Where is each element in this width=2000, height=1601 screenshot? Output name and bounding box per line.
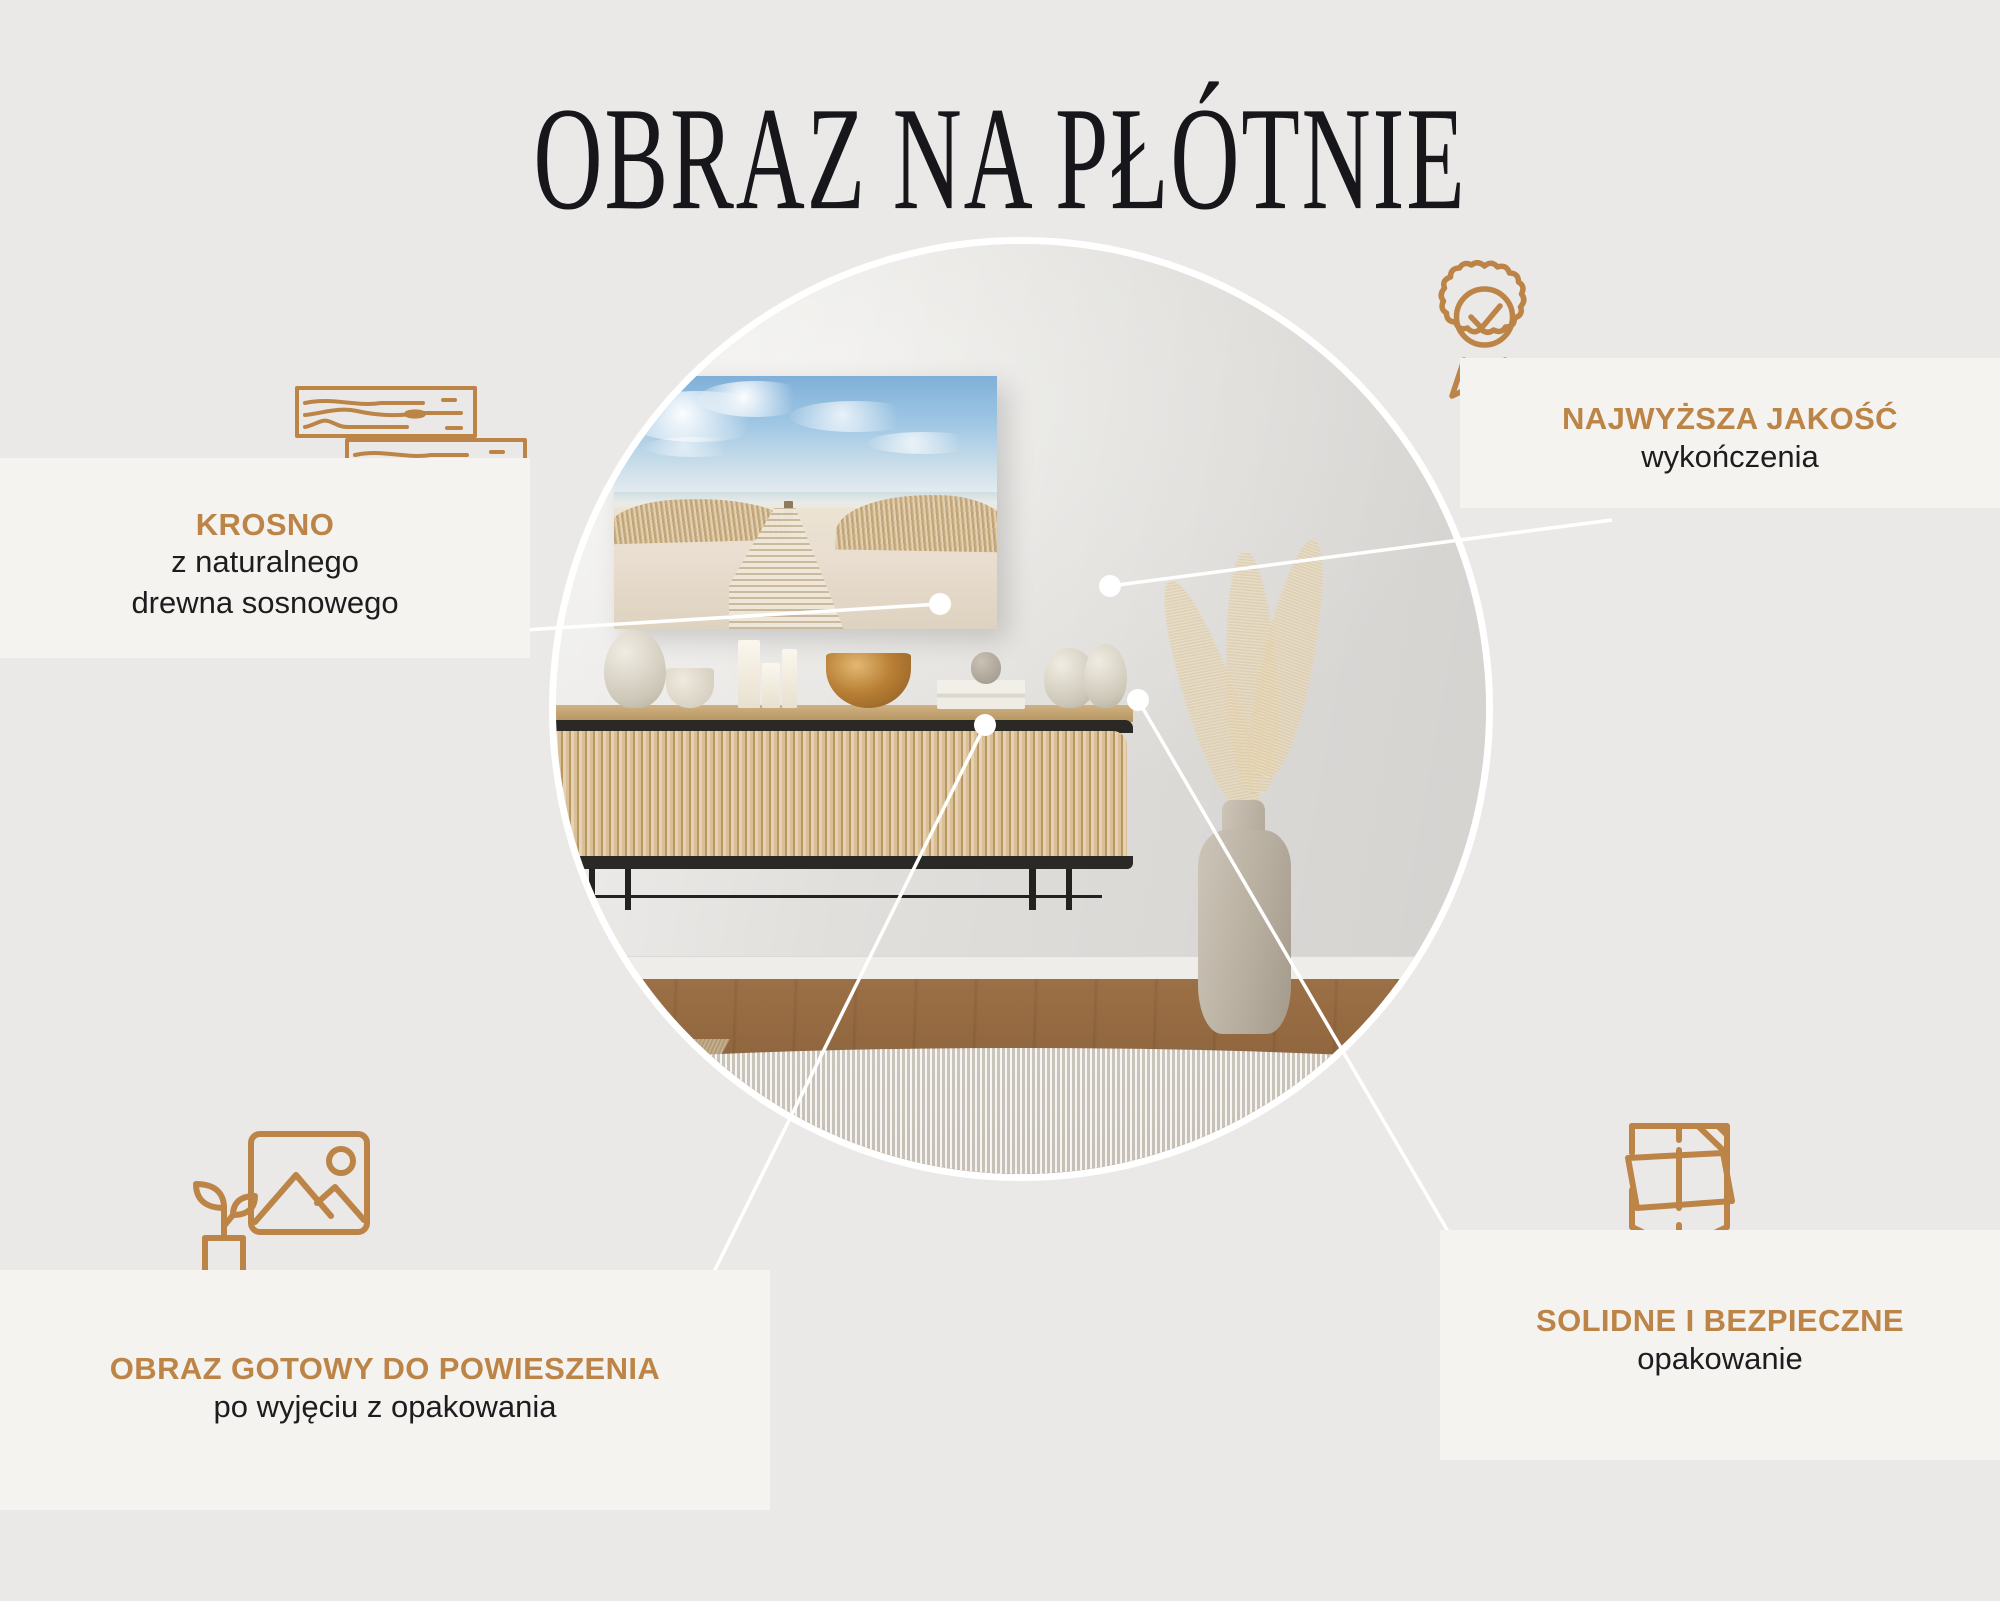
interior-room-photo bbox=[556, 244, 1486, 1174]
feature-panel-jakosc: NAJWYŻSZA JAKOŚĆ wykończenia bbox=[1460, 358, 2000, 508]
decor-round-vase bbox=[1084, 644, 1127, 708]
page-title: OBRAZ NA PŁÓTNIE bbox=[80, 86, 1920, 234]
baseboard bbox=[556, 956, 1486, 980]
feature-title-krosno: KROSNO bbox=[0, 507, 530, 543]
decor-candle bbox=[762, 663, 780, 709]
sideboard-leg bbox=[589, 869, 596, 910]
feature-panel-krosno: KROSNO z naturalnego drewna sosnowego bbox=[0, 458, 530, 658]
decor-round-vase bbox=[604, 630, 665, 708]
cloud-icon bbox=[790, 401, 920, 431]
framed-picture-icon bbox=[155, 1130, 415, 1290]
feature-subtitle-krosno-line1: z naturalnego bbox=[0, 542, 530, 583]
sideboard-lower-band bbox=[556, 856, 1133, 869]
feature-title-jakosc: NAJWYŻSZA JAKOŚĆ bbox=[1460, 401, 2000, 437]
leaf-icon bbox=[196, 1184, 224, 1208]
sideboard-leg bbox=[625, 869, 632, 910]
canvas-artwork bbox=[614, 376, 997, 629]
sideboard-ribbed-front bbox=[556, 731, 1127, 859]
feature-subtitle-jakosc: wykończenia bbox=[1460, 437, 2000, 478]
feature-subtitle-solidne: opakowanie bbox=[1440, 1339, 2000, 1380]
decor-stone-ball bbox=[971, 652, 1002, 684]
feature-title-solidne: SOLIDNE I BEZPIECZNE bbox=[1440, 1303, 2000, 1339]
sideboard-leg bbox=[1066, 869, 1073, 910]
decor-books bbox=[937, 680, 1024, 709]
decor-candle bbox=[738, 640, 759, 708]
feature-panel-gotowy: OBRAZ GOTOWY DO POWIESZENIA po wyjęciu z… bbox=[0, 1270, 770, 1510]
pampas-vase bbox=[1198, 830, 1291, 1035]
cloud-icon bbox=[644, 437, 744, 457]
feature-subtitle-gotowy: po wyjęciu z opakowania bbox=[0, 1387, 770, 1428]
infographic-root: OBRAZ NA PŁÓTNIE bbox=[0, 0, 2000, 1601]
decor-candle bbox=[782, 649, 797, 708]
feature-panel-solidne: SOLIDNE I BEZPIECZNE opakowanie bbox=[1440, 1230, 2000, 1460]
sideboard-furniture bbox=[556, 705, 1133, 891]
feature-title-gotowy: OBRAZ GOTOWY DO POWIESZENIA bbox=[0, 1351, 770, 1387]
sideboard-leg bbox=[1029, 869, 1036, 910]
sideboard-rail bbox=[558, 895, 1102, 898]
feature-subtitle-krosno-line2: drewna sosnowego bbox=[0, 583, 530, 624]
area-rug bbox=[556, 1048, 1486, 1174]
